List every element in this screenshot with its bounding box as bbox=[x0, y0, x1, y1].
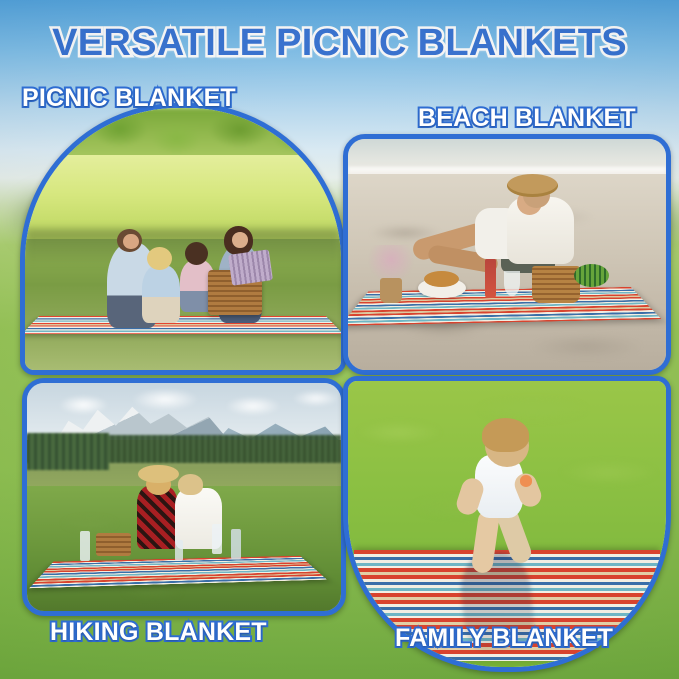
wine-glass bbox=[504, 271, 520, 296]
person-child-blond bbox=[142, 265, 180, 323]
hiker-plaid-shirt bbox=[137, 486, 178, 550]
hiker-white-head bbox=[178, 474, 203, 495]
poster-canvas: VERSATILE PICNIC BLANKETS PICNIC BLANKET… bbox=[0, 0, 679, 679]
picnic-basket bbox=[96, 533, 131, 556]
striped-blanket bbox=[22, 316, 344, 334]
water-bottle-3 bbox=[212, 524, 221, 554]
page-title: VERSATILE PICNIC BLANKETS bbox=[0, 22, 679, 65]
bread-loaf bbox=[424, 271, 459, 287]
wicker-vase bbox=[380, 278, 402, 303]
pine-forest-left bbox=[27, 433, 109, 469]
panel-label-picnic: PICNIC BLANKET bbox=[22, 84, 236, 113]
photo-picnic-scene bbox=[25, 108, 341, 370]
photo-panel-beach[interactable] bbox=[343, 134, 671, 375]
water-bottle-2 bbox=[175, 540, 183, 561]
straw-hat bbox=[507, 174, 558, 197]
mother-face bbox=[232, 232, 248, 248]
park-tree-shadow bbox=[25, 229, 341, 266]
wine-bottle bbox=[485, 259, 496, 298]
panel-label-beach: BEACH BLANKET bbox=[418, 104, 636, 133]
park-treeline bbox=[25, 108, 341, 160]
toddler-hair bbox=[482, 418, 530, 452]
photo-hiking-scene bbox=[27, 383, 341, 611]
photo-beach-scene bbox=[348, 139, 666, 370]
picnic-basket bbox=[532, 266, 580, 303]
panel-label-family: FAMILY BLANKET bbox=[395, 624, 613, 653]
dried-flowers bbox=[364, 245, 418, 282]
water-bottle-1 bbox=[80, 531, 89, 561]
picnic-basket-lid bbox=[228, 249, 273, 286]
watermelon bbox=[574, 264, 609, 287]
water-bottle-4 bbox=[231, 529, 240, 559]
photo-panel-hiking[interactable] bbox=[22, 378, 346, 616]
toy-ball bbox=[520, 475, 533, 486]
panel-label-hiking: HIKING BLANKET bbox=[50, 618, 267, 647]
father-face bbox=[123, 234, 139, 250]
photo-panel-picnic[interactable] bbox=[20, 103, 346, 375]
